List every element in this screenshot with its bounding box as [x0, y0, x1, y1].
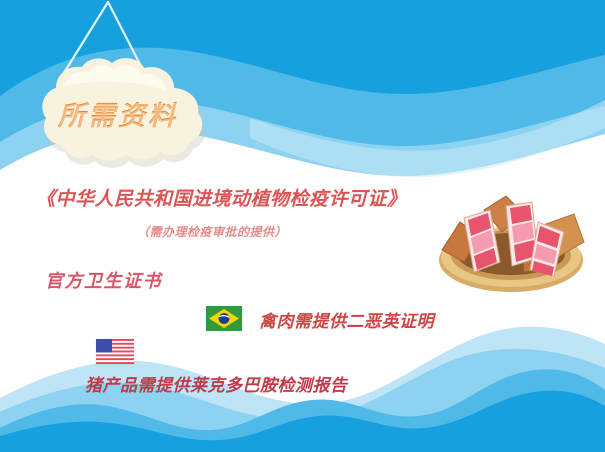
sign-title: 所需资料	[8, 58, 222, 168]
cloud-sign-banner: 所需资料	[8, 58, 222, 168]
pork-belly-plate-image	[428, 188, 594, 296]
requirement-poultry-dioxin-certificate: 禽肉需提供二恶英证明	[259, 307, 434, 332]
brazil-flag-icon	[206, 306, 242, 331]
poster-canvas: 所需资料	[0, 0, 605, 452]
requirement-import-quarantine-permit-note: （需办理检疫审批的提供）	[137, 223, 287, 240]
usa-flag-icon	[96, 339, 134, 364]
requirement-import-quarantine-permit: 《中华人民共和国进境动植物检疫许可证》	[36, 184, 407, 211]
requirement-pork-ractopamine-report: 猪产品需提供莱克多巴胺检测报告	[85, 371, 348, 396]
requirement-official-health-certificate: 官方卫生证书	[45, 267, 162, 293]
